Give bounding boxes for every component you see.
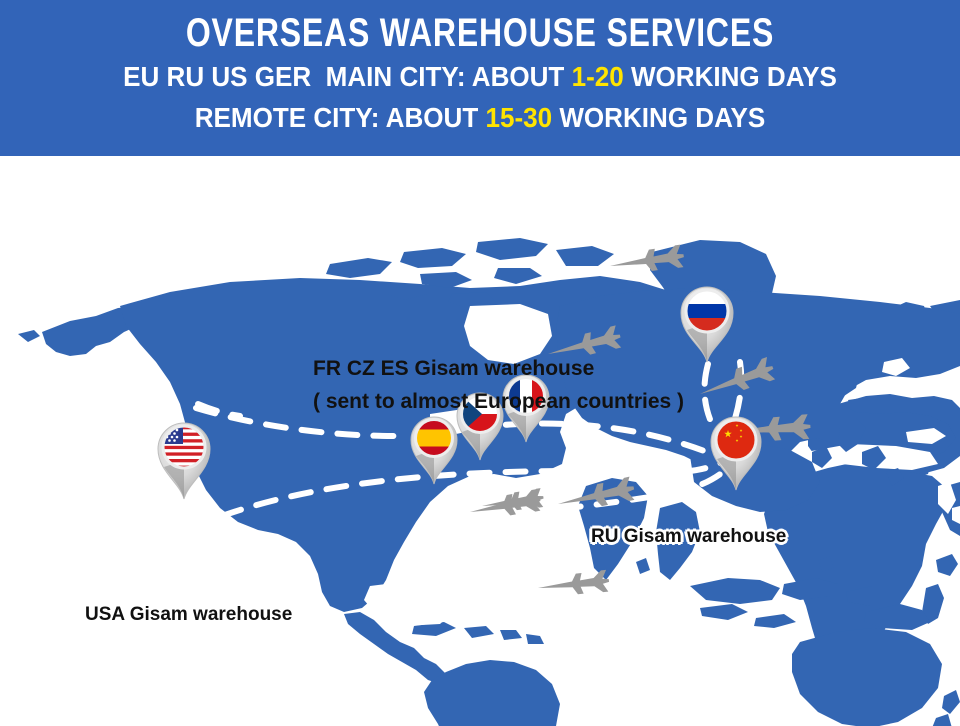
banner-title: OVERSEAS WAREHOUSE SERVICES bbox=[96, 13, 864, 53]
header-banner: OVERSEAS WAREHOUSE SERVICES EU RU US GER… bbox=[0, 0, 960, 156]
banner-line2-pre: REMOTE CITY: ABOUT bbox=[195, 102, 486, 133]
banner-line2-highlight: 15-30 bbox=[485, 102, 552, 133]
label-ru-warehouse: RU Gisam warehouse bbox=[591, 526, 786, 548]
map-pin-us[interactable] bbox=[158, 423, 210, 499]
world-map-area: FR CZ ES Gisam warehouse( sent to almost… bbox=[0, 156, 960, 726]
world-map-graphic bbox=[0, 156, 960, 726]
label-usa-text: USA Gisam warehouse bbox=[85, 604, 292, 625]
europe-note-line-2: ( sent to almost European countries ) bbox=[313, 390, 684, 413]
banner-line1-highlight: 1-20 bbox=[572, 61, 624, 92]
europe-note: FR CZ ES Gisam warehouse( sent to almost… bbox=[313, 352, 684, 418]
europe-note-line-1: FR CZ ES Gisam warehouse bbox=[313, 357, 594, 380]
banner-line1-post: WORKING DAYS bbox=[624, 61, 837, 92]
airplane-icon bbox=[537, 570, 610, 599]
promo-banner-image: OVERSEAS WAREHOUSE SERVICES EU RU US GER… bbox=[0, 0, 960, 726]
banner-line2-post: WORKING DAYS bbox=[552, 102, 765, 133]
banner-subtitle-line-2: REMOTE CITY: ABOUT 15-30 WORKING DAYS bbox=[34, 103, 927, 133]
label-ru-text: RU Gisam warehouse bbox=[591, 526, 786, 547]
banner-line1-pre: EU RU US GER MAIN CITY: ABOUT bbox=[123, 61, 571, 92]
banner-subtitle-line-1: EU RU US GER MAIN CITY: ABOUT 1-20 WORKI… bbox=[34, 62, 927, 92]
label-usa-warehouse: USA Gisam warehouse bbox=[85, 604, 292, 626]
